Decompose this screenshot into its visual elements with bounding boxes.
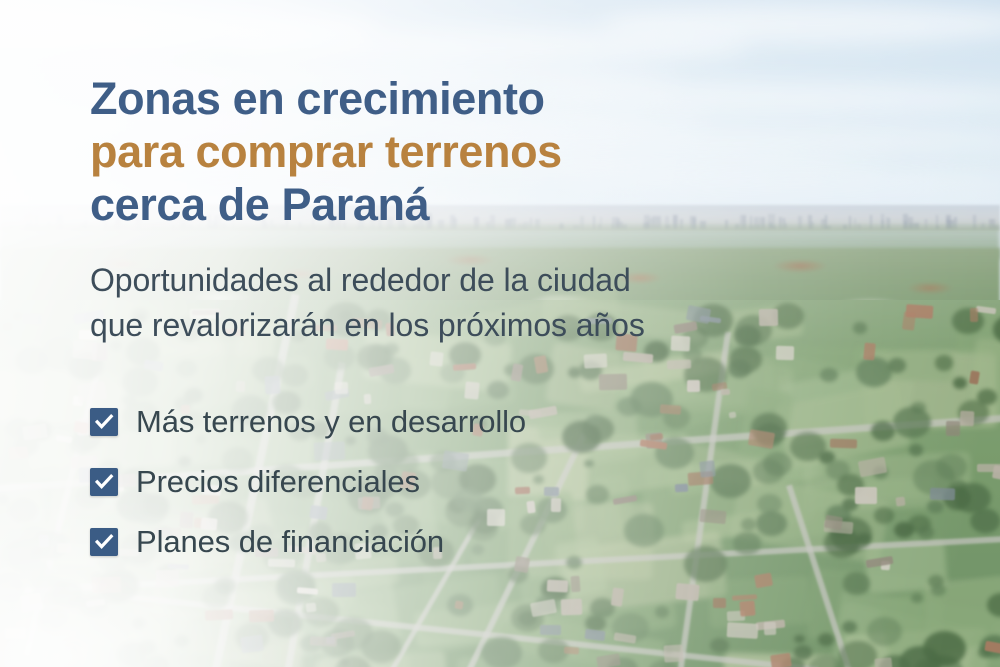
list-item: Precios diferenciales bbox=[90, 452, 526, 512]
headline-block: Zonas en crecimiento para comprar terren… bbox=[90, 72, 850, 231]
promo-banner: Zonas en crecimiento para comprar terren… bbox=[0, 0, 1000, 667]
benefits-list: Más terrenos y en desarrollo Precios dif… bbox=[90, 392, 526, 572]
checkbox-checked-icon bbox=[90, 528, 118, 556]
subtitle-line-2: que revalorizarán en los próximos años bbox=[90, 303, 850, 348]
list-item: Planes de financiación bbox=[90, 512, 526, 572]
benefit-label: Precios diferenciales bbox=[136, 464, 420, 500]
benefit-label: Planes de financiación bbox=[136, 524, 444, 560]
headline-line-2: para comprar terrenos bbox=[90, 125, 850, 178]
list-item: Más terrenos y en desarrollo bbox=[90, 392, 526, 452]
benefit-label: Más terrenos y en desarrollo bbox=[136, 404, 526, 440]
headline-line-3: cerca de Paraná bbox=[90, 178, 850, 231]
banner-content: Zonas en crecimiento para comprar terren… bbox=[0, 0, 1000, 667]
checkbox-checked-icon bbox=[90, 408, 118, 436]
subtitle-line-1: Oportunidades al rededor de la ciudad bbox=[90, 258, 850, 303]
checkbox-checked-icon bbox=[90, 468, 118, 496]
subtitle-block: Oportunidades al rededor de la ciudad qu… bbox=[90, 258, 850, 348]
headline-line-1: Zonas en crecimiento bbox=[90, 72, 850, 125]
